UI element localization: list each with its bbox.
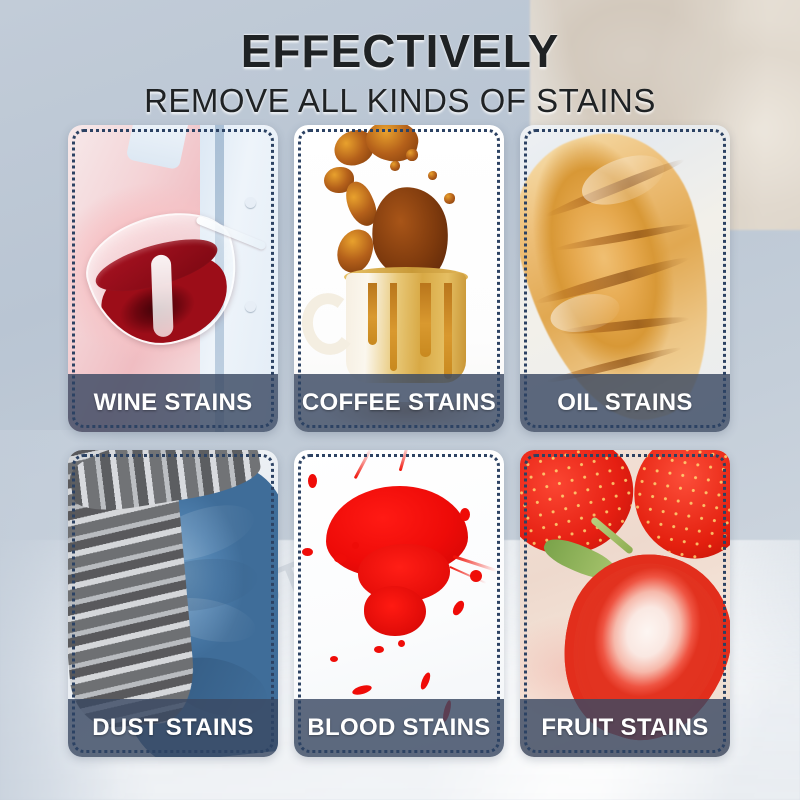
- card-label-bar: BLOOD STAINS: [294, 699, 504, 757]
- card-label-bar: FRUIT STAINS: [520, 699, 730, 757]
- card-label-text: OIL STAINS: [557, 389, 692, 417]
- headline-primary: EFFECTIVELY: [0, 24, 800, 78]
- card-label-text: DUST STAINS: [92, 714, 254, 742]
- headline-secondary: REMOVE ALL KINDS OF STAINS: [0, 82, 800, 120]
- stain-card-wine[interactable]: WINE STAINS: [68, 125, 278, 432]
- stain-removal-poster: DUST DRY EFFECTIVELY REMOVE ALL KINDS OF…: [0, 0, 800, 800]
- card-label-bar: OIL STAINS: [520, 374, 730, 432]
- stain-card-dust[interactable]: DUST STAINS: [68, 450, 278, 757]
- stain-card-grid: WINE STAINS: [68, 125, 730, 757]
- card-label-bar: DUST STAINS: [68, 699, 278, 757]
- card-label-text: FRUIT STAINS: [541, 714, 708, 742]
- stain-card-coffee[interactable]: COFFEE STAINS: [294, 125, 504, 432]
- card-label-bar: COFFEE STAINS: [294, 374, 504, 432]
- stain-card-fruit[interactable]: FRUIT STAINS: [520, 450, 730, 757]
- card-label-text: WINE STAINS: [94, 389, 253, 417]
- page-title: EFFECTIVELY REMOVE ALL KINDS OF STAINS: [0, 24, 800, 120]
- stain-card-oil[interactable]: OIL STAINS: [520, 125, 730, 432]
- card-label-text: BLOOD STAINS: [307, 714, 490, 742]
- card-label-text: COFFEE STAINS: [302, 389, 496, 417]
- stain-card-blood[interactable]: BLOOD STAINS: [294, 450, 504, 757]
- card-label-bar: WINE STAINS: [68, 374, 278, 432]
